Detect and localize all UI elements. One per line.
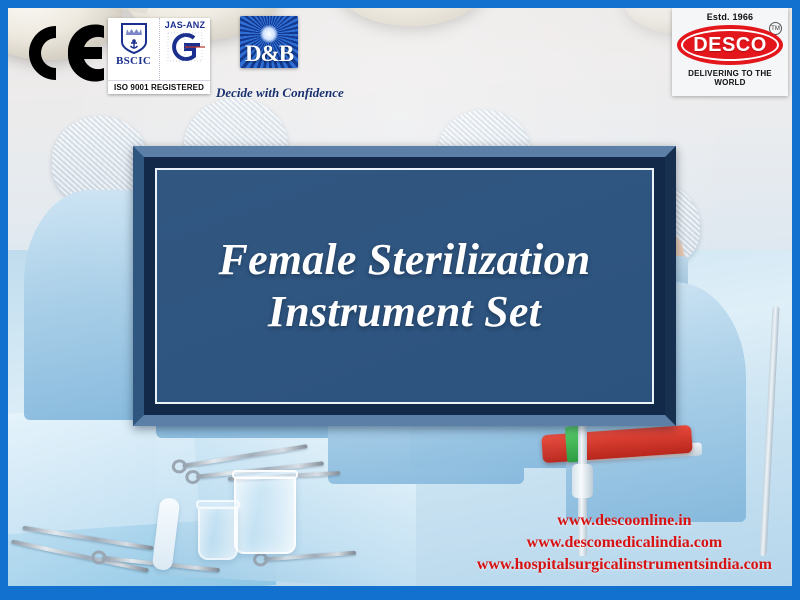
bscic-certificate-logo: BSCIC JAS-ANZ [108,18,210,94]
title-panel: Female Sterilization Instrument Set [155,168,654,404]
title-line-1: Female Sterilization [219,235,591,284]
jar-rim [232,470,298,479]
website-url-3[interactable]: www.hospitalsurgicalinstrumentsindia.com [477,554,772,576]
dnb-label: D&B [240,42,298,65]
website-url-1[interactable]: www.descoonline.in [477,510,772,532]
website-url-block: www.descoonline.in www.descomedicalindia… [477,510,772,576]
bscic-top: BSCIC JAS-ANZ [108,18,210,80]
bscic-left: BSCIC [108,18,159,80]
desco-company-logo: Estd. 1966 TM DESCO DELIVERING TO THE WO… [672,8,788,96]
certification-logo-row: BSCIC JAS-ANZ [0,0,800,104]
dnb-badge-icon: D&B [240,16,298,68]
title-line-2: Instrument Set [268,287,541,336]
jas-anz-c-icon [165,30,205,64]
established-label: Estd. 1966 [676,12,784,22]
glass-jar-icon [198,506,238,560]
company-tagline: DELIVERING TO THE WORLD [676,69,784,87]
desco-oval-badge: DESCO [677,25,783,65]
website-url-2[interactable]: www.descomedicalindia.com [477,532,772,554]
product-banner: BSCIC JAS-ANZ [0,0,800,600]
title-frame: Female Sterilization Instrument Set [133,146,676,426]
glass-jar-icon [234,476,296,554]
iv-pole-joint [572,464,593,498]
page-title: Female Sterilization Instrument Set [203,234,607,338]
company-name: DESCO [693,34,767,57]
bscic-label: BSCIC [111,55,157,67]
jar-rim [196,500,240,509]
dnb-tagline: Decide with Confidence [216,85,344,101]
starburst-core [260,25,278,43]
iso-registration-label: ISO 9001 REGISTERED [108,80,210,94]
bscic-right: JAS-ANZ [159,18,210,80]
shield-crown-anchor-icon [120,20,148,54]
jas-anz-label: JAS-ANZ [165,20,205,30]
ce-mark-icon [18,22,108,84]
dnb-logo-group: D&B Decide with Confidence [240,16,298,68]
